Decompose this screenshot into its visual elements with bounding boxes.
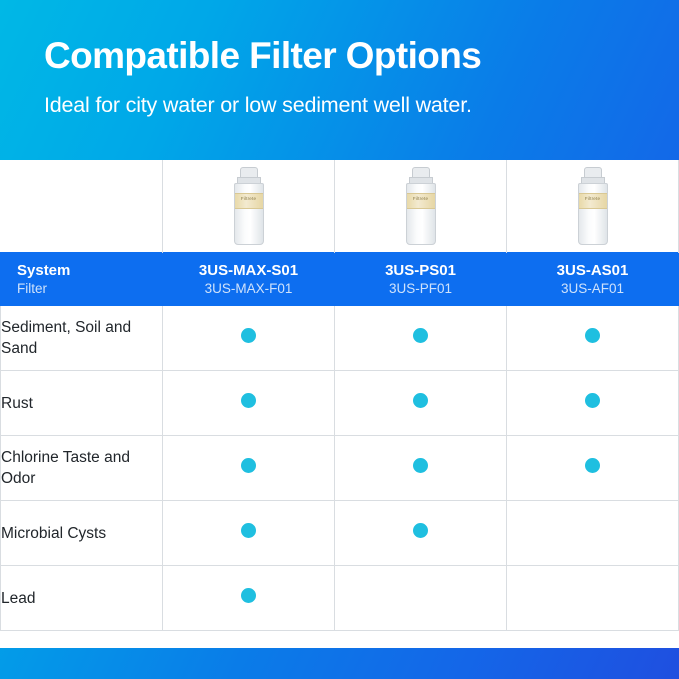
feature-label: Sediment, Soil and Sand xyxy=(1,306,163,371)
product-header-2: 3US-PS01 3US-PF01 xyxy=(335,253,507,306)
header-filter-label: Filter xyxy=(17,280,162,298)
compat-cell xyxy=(507,306,679,371)
header-system-filter-cell: System Filter xyxy=(1,253,163,306)
compatibility-panel: Filtrete Filtrete xyxy=(0,160,679,648)
product-system-1: 3US-MAX-S01 xyxy=(163,261,334,280)
product-header-1: 3US-MAX-S01 3US-MAX-F01 xyxy=(163,253,335,306)
compatibility-table: Filtrete Filtrete xyxy=(0,160,679,631)
product-system-3: 3US-AS01 xyxy=(507,261,678,280)
table-row: Chlorine Taste and Odor xyxy=(1,436,679,501)
filter-image-label-3: Filtrete xyxy=(578,196,608,201)
feature-label: Microbial Cysts xyxy=(1,501,163,566)
compat-cell xyxy=(163,566,335,631)
page-root: Compatible Filter Options Ideal for city… xyxy=(0,0,679,679)
header-system-label: System xyxy=(17,261,162,280)
filter-cartridge-icon: Filtrete xyxy=(234,167,264,245)
compat-cell xyxy=(335,371,507,436)
page-title: Compatible Filter Options xyxy=(44,34,639,78)
feature-label: Lead xyxy=(1,566,163,631)
page-header: Compatible Filter Options Ideal for city… xyxy=(0,0,679,160)
table-header-row: System Filter 3US-MAX-S01 3US-MAX-F01 3U… xyxy=(1,253,679,306)
compat-cell xyxy=(507,436,679,501)
compat-cell xyxy=(163,436,335,501)
product-image-row: Filtrete Filtrete xyxy=(1,160,679,253)
compat-cell xyxy=(335,501,507,566)
compat-dot-icon xyxy=(585,393,600,408)
compat-dot-icon xyxy=(241,523,256,538)
product-filter-2: 3US-PF01 xyxy=(335,280,506,298)
page-subtitle: Ideal for city water or low sediment wel… xyxy=(44,90,639,120)
table-row: Sediment, Soil and Sand xyxy=(1,306,679,371)
product-image-cell-3: Filtrete xyxy=(507,160,679,253)
compat-dot-icon xyxy=(241,328,256,343)
filter-cartridge-icon: Filtrete xyxy=(578,167,608,245)
compat-cell xyxy=(335,436,507,501)
product-image-cell-1: Filtrete xyxy=(163,160,335,253)
compat-cell xyxy=(507,566,679,631)
compat-cell xyxy=(163,306,335,371)
compat-dot-icon xyxy=(413,458,428,473)
table-row: Microbial Cysts xyxy=(1,501,679,566)
product-filter-3: 3US-AF01 xyxy=(507,280,678,298)
product-header-3: 3US-AS01 3US-AF01 xyxy=(507,253,679,306)
product-filter-1: 3US-MAX-F01 xyxy=(163,280,334,298)
product-system-2: 3US-PS01 xyxy=(335,261,506,280)
compat-dot-icon xyxy=(413,393,428,408)
compat-dot-icon xyxy=(241,458,256,473)
table-row: Lead xyxy=(1,566,679,631)
compat-cell xyxy=(163,371,335,436)
compat-cell xyxy=(507,501,679,566)
compat-dot-icon xyxy=(413,328,428,343)
image-row-corner xyxy=(1,160,163,253)
product-image-cell-2: Filtrete xyxy=(335,160,507,253)
compat-dot-icon xyxy=(585,458,600,473)
feature-label: Rust xyxy=(1,371,163,436)
compat-dot-icon xyxy=(585,328,600,343)
filter-cartridge-icon: Filtrete xyxy=(406,167,436,245)
table-row: Rust xyxy=(1,371,679,436)
compat-dot-icon xyxy=(413,523,428,538)
compat-dot-icon xyxy=(241,588,256,603)
feature-label: Chlorine Taste and Odor xyxy=(1,436,163,501)
compat-cell xyxy=(507,371,679,436)
filter-image-label-1: Filtrete xyxy=(234,196,264,201)
filter-image-label-2: Filtrete xyxy=(406,196,436,201)
compat-cell xyxy=(335,566,507,631)
compat-cell xyxy=(335,306,507,371)
compat-cell xyxy=(163,501,335,566)
compat-dot-icon xyxy=(241,393,256,408)
